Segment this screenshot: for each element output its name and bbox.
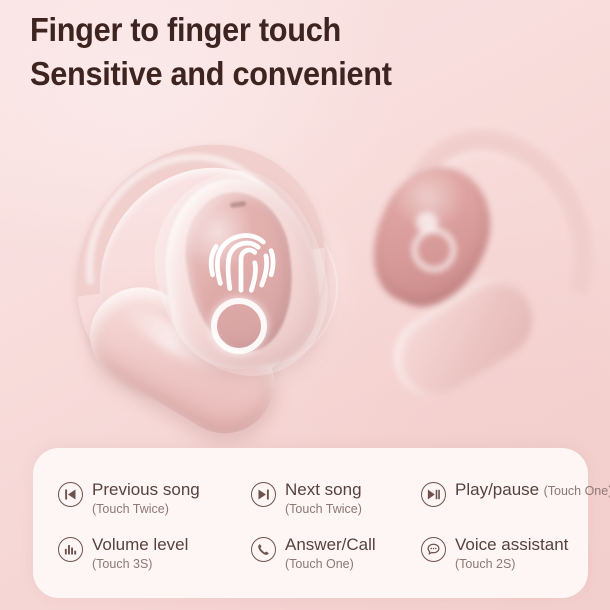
feature-sublabel: (Touch 2S)	[455, 557, 515, 571]
feature-text: Next song (Touch Twice)	[285, 479, 421, 519]
feature-label: Voice assistant	[455, 535, 568, 554]
feature-label: Play/pause	[455, 480, 539, 499]
feature-text: Voice assistant (Touch 2S)	[455, 534, 610, 574]
touch-point-ring	[211, 298, 267, 354]
feature-grid: Previous song (Touch Twice) Next song (T…	[33, 448, 588, 598]
feature-text: Play/pause (Touch One)	[455, 479, 610, 501]
feature-voice-assistant[interactable]: Voice assistant (Touch 2S)	[421, 534, 610, 589]
phone-call-icon	[251, 537, 276, 562]
fingerprint-icon	[198, 218, 284, 304]
feature-label: Answer/Call	[285, 535, 376, 554]
volume-level-icon	[58, 537, 83, 562]
earbud-left-focused	[70, 130, 330, 460]
heading-line-1: Finger to finger touch	[30, 11, 341, 48]
feature-sublabel: (Touch Twice)	[92, 502, 169, 516]
touch-controls-card: Previous song (Touch Twice) Next song (T…	[33, 448, 588, 598]
voice-assistant-icon	[421, 537, 446, 562]
earbud-right-blurred	[360, 120, 580, 410]
heading-line-2: Sensitive and convenient	[30, 52, 551, 96]
feature-label: Volume level	[92, 535, 188, 554]
feature-sublabel: (Touch 3S)	[92, 557, 152, 571]
feature-play-pause[interactable]: Play/pause (Touch One)	[421, 479, 610, 534]
feature-text: Previous song (Touch Twice)	[92, 479, 251, 519]
feature-answer-call[interactable]: Answer/Call (Touch One)	[251, 534, 421, 589]
feature-volume-level[interactable]: Volume level (Touch 3S)	[58, 534, 251, 589]
product-feature-banner: Finger to finger touch Sensitive and con…	[0, 0, 610, 610]
next-track-icon	[251, 482, 276, 507]
play-pause-icon	[421, 482, 446, 507]
previous-track-icon	[58, 482, 83, 507]
right-logo-ring	[412, 228, 456, 272]
product-photo	[0, 110, 610, 470]
feature-next-song[interactable]: Next song (Touch Twice)	[251, 479, 421, 534]
feature-previous-song[interactable]: Previous song (Touch Twice)	[58, 479, 251, 534]
feature-text: Volume level (Touch 3S)	[92, 534, 251, 574]
feature-sublabel: (Touch One)	[544, 484, 610, 498]
feature-sublabel: (Touch One)	[285, 557, 354, 571]
feature-label: Next song	[285, 480, 362, 499]
feature-sublabel: (Touch Twice)	[285, 502, 362, 516]
feature-label: Previous song	[92, 480, 200, 499]
page-title: Finger to finger touch Sensitive and con…	[30, 8, 551, 96]
feature-text: Answer/Call (Touch One)	[285, 534, 421, 574]
